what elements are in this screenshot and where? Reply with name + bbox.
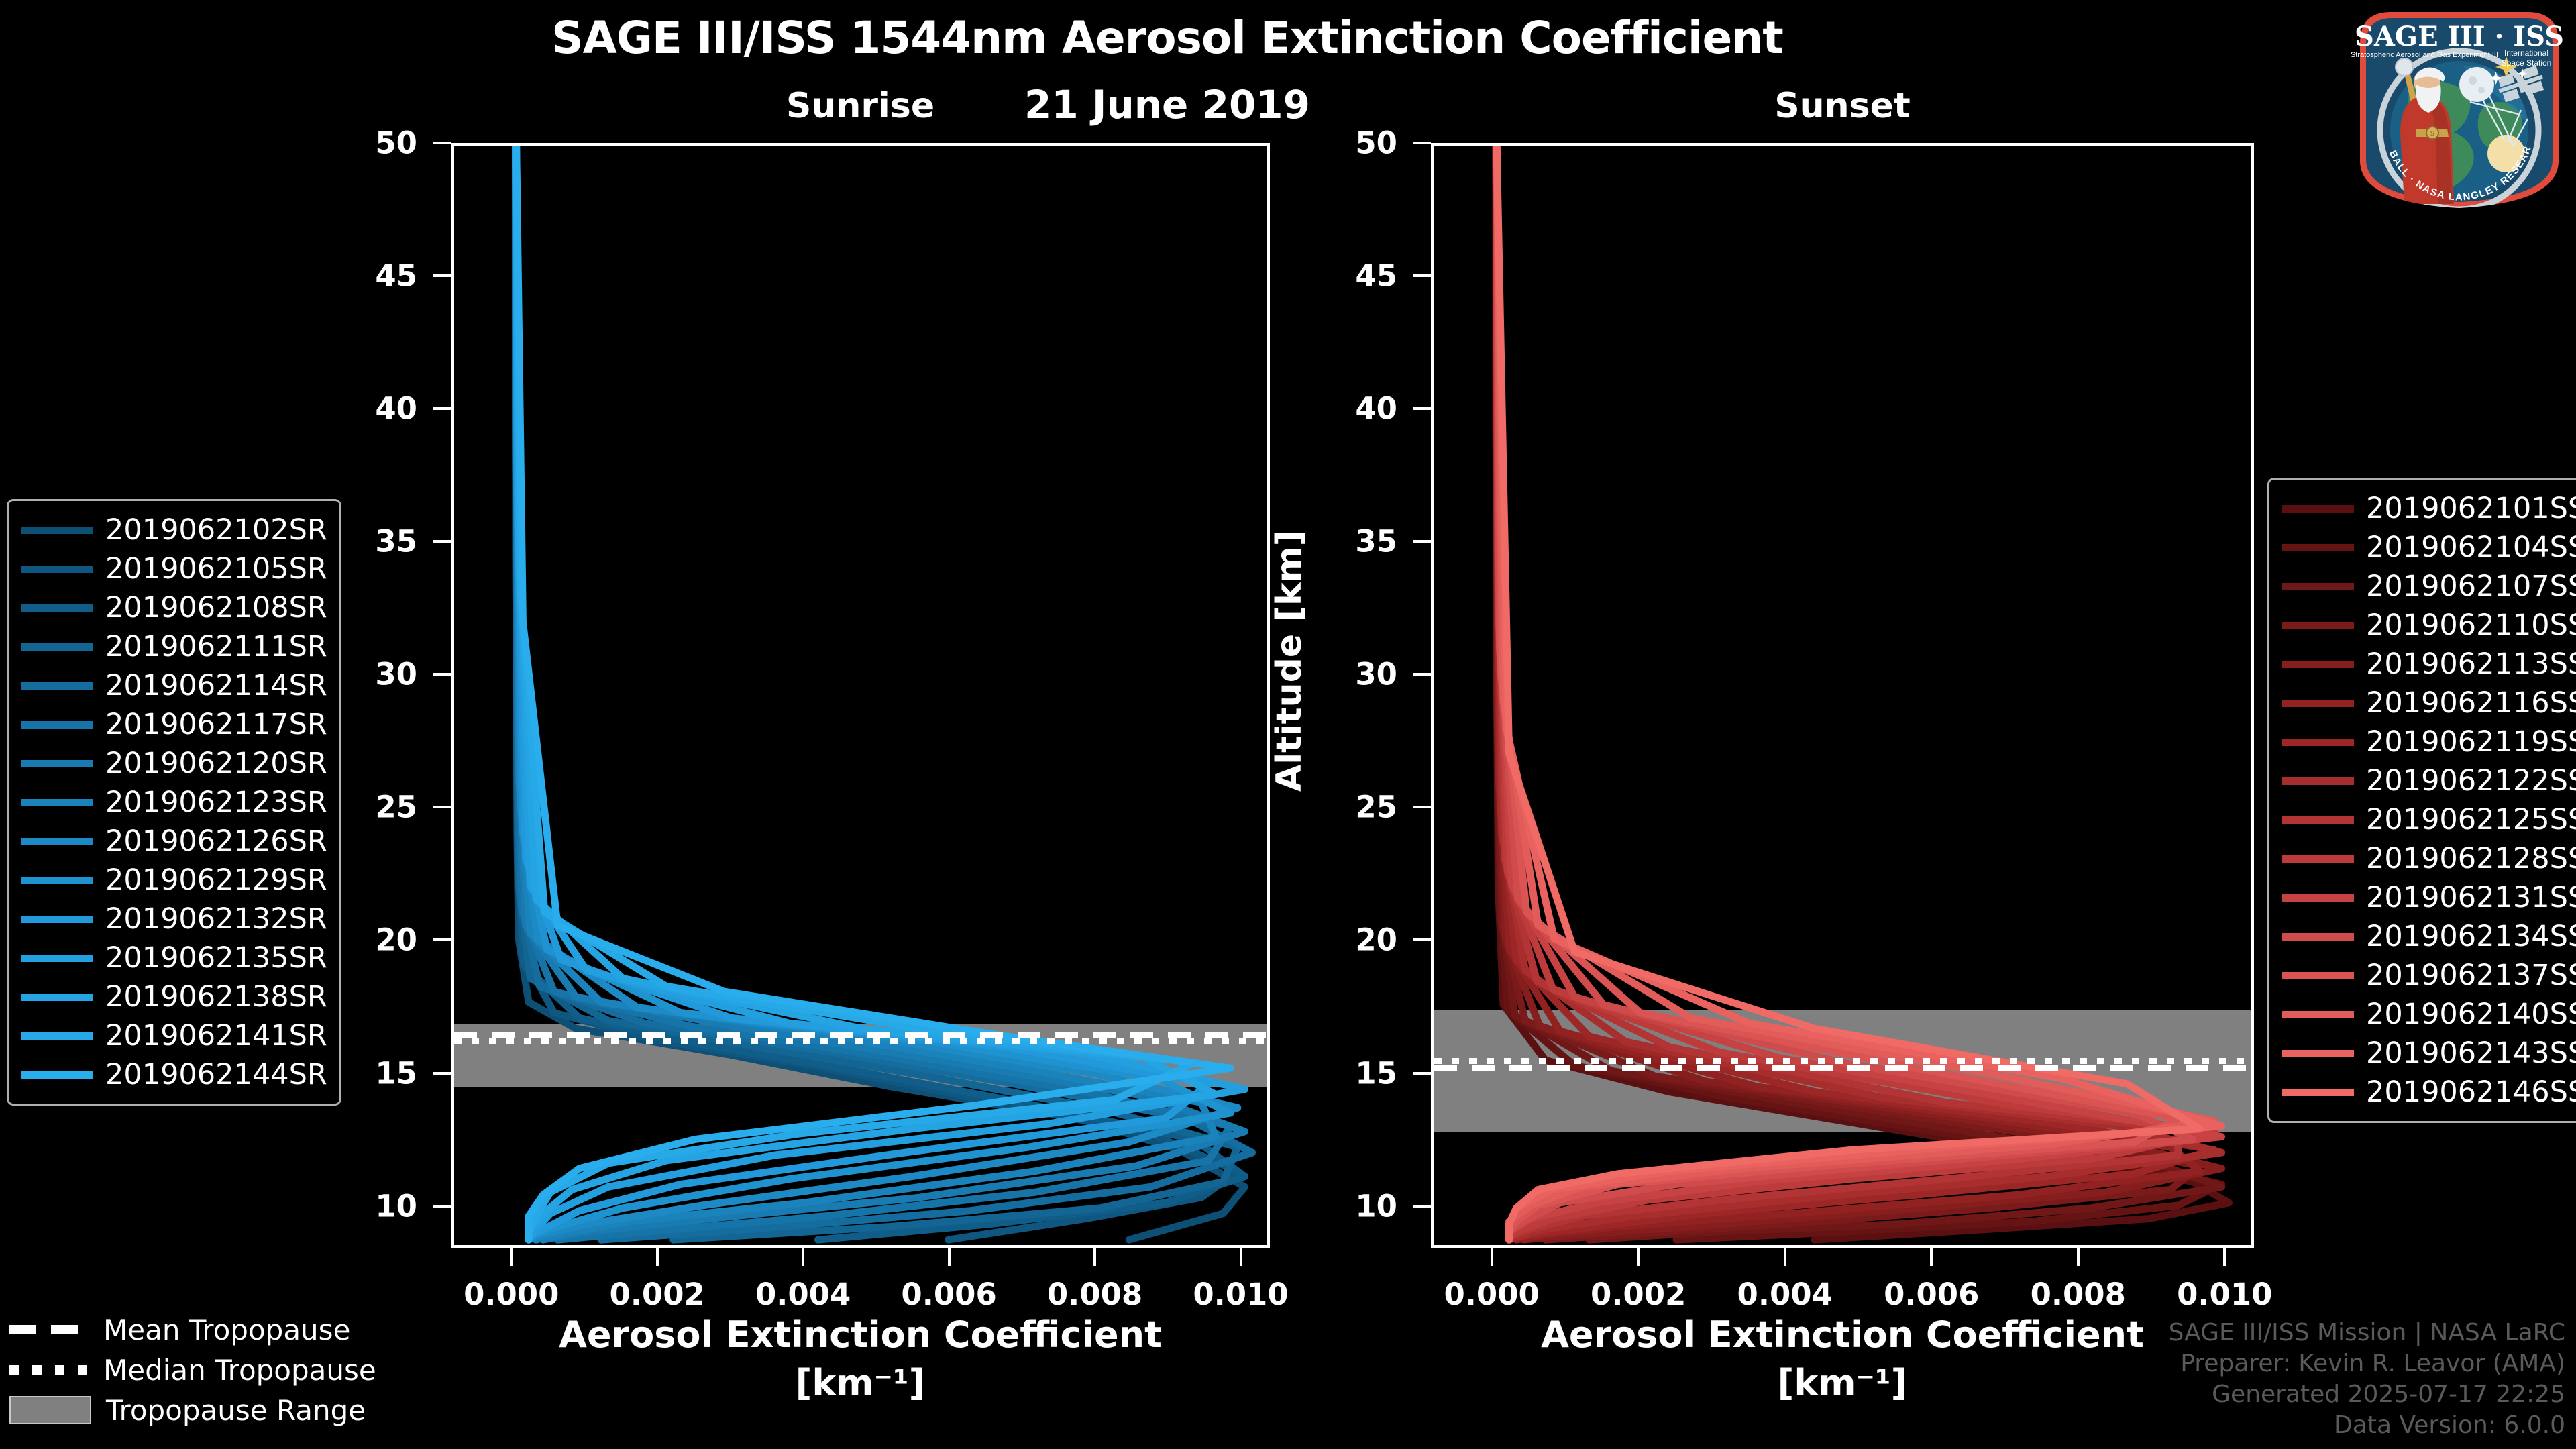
credits-block: SAGE III/ISS Mission | NASA LaRC Prepare…	[2169, 1318, 2565, 1441]
legend-label: 2019062123SR	[105, 786, 327, 819]
y-axis-tick	[1413, 673, 1431, 676]
legend-item[interactable]: 2019062101SS	[2282, 489, 2576, 528]
y-axis-tick	[433, 407, 451, 410]
legend-color-swatch	[21, 877, 93, 884]
sage-iii-iss-logo: S BALL · NASA LANGLEY RESEARCH CENTER · …	[2345, 3, 2573, 211]
legend-label: 2019062131SS	[2366, 881, 2576, 914]
y-axis-tick	[433, 142, 451, 144]
legend-item[interactable]: 2019062120SR	[21, 744, 327, 783]
legend-item[interactable]: 2019062116SS	[2282, 684, 2576, 722]
y-axis-tick-label: 25	[1297, 790, 1397, 825]
legend-item[interactable]: 2019062129SR	[21, 861, 327, 900]
legend-label-mean-tropopause: Mean Tropopause	[103, 1313, 350, 1346]
legend-label: 2019062105SR	[105, 552, 327, 586]
sunset-profiles	[1434, 146, 2251, 1245]
x-axis-tick	[510, 1248, 513, 1266]
legend-label: 2019062110SS	[2366, 608, 2576, 642]
y-axis-tick-label: 40	[1297, 391, 1397, 427]
legend-color-swatch	[21, 604, 93, 612]
page-title: SAGE III/ISS 1544nm Aerosol Extinction C…	[0, 12, 2334, 64]
legend-item[interactable]: 2019062107SS	[2282, 567, 2576, 606]
legend-label: 2019062141SR	[105, 1019, 327, 1053]
credit-data-version: Data Version: 6.0.0	[2169, 1410, 2565, 1441]
logo-subtitle-right-1: International	[2504, 48, 2548, 58]
legend-color-swatch	[2282, 544, 2354, 551]
legend-color-swatch	[2282, 505, 2354, 513]
legend-label: 2019062129SR	[105, 863, 327, 897]
y-axis-tick-label: 10	[317, 1188, 417, 1224]
y-axis-tick-label: 35	[1297, 524, 1397, 559]
y-axis-tick-label: 50	[317, 125, 417, 161]
logo-subtitle-right-2: Space Station	[2502, 58, 2552, 68]
x-axis-tick	[2223, 1248, 2226, 1266]
legend-item[interactable]: 2019062102SR	[21, 511, 327, 549]
x-axis-tick-label: 0.010	[1154, 1277, 1328, 1312]
legend-color-swatch	[21, 1071, 93, 1079]
legend-label: 2019062117SR	[105, 708, 327, 741]
legend-color-swatch	[2282, 700, 2354, 707]
x-axis-tick	[2077, 1248, 2080, 1266]
mean-tropopause-line-sunset	[1434, 1065, 2251, 1071]
legend-label: 2019062144SR	[105, 1058, 327, 1091]
credit-generated: Generated 2025-07-17 22:25	[2169, 1379, 2565, 1410]
legend-color-swatch	[2282, 622, 2354, 629]
legend-color-swatch	[21, 838, 93, 845]
y-axis-tick	[1413, 540, 1431, 543]
legend-item-tropopause-range[interactable]: Tropopause Range	[9, 1390, 376, 1430]
legend-color-swatch	[21, 566, 93, 573]
legend-color-swatch	[2282, 972, 2354, 979]
legend-color-swatch	[2282, 816, 2354, 824]
x-axis-tick	[1784, 1248, 1786, 1266]
legend-label-median-tropopause: Median Tropopause	[103, 1354, 376, 1387]
sunrise-x-axis-title-line1: Aerosol Extinction Coefficient	[451, 1313, 1270, 1356]
legend-label: 2019062101SS	[2366, 492, 2576, 525]
x-axis-tick	[1637, 1248, 1640, 1266]
x-axis-tick	[1491, 1248, 1493, 1266]
y-axis-tick-label: 15	[1297, 1055, 1397, 1091]
y-axis-tick	[1413, 806, 1431, 808]
y-axis-tick	[433, 1072, 451, 1075]
credit-preparer: Preparer: Kevin R. Leavor (AMA)	[2169, 1348, 2565, 1379]
legend-color-swatch	[21, 994, 93, 1001]
legend-item[interactable]: 2019062137SS	[2282, 956, 2576, 995]
sunrise-panel-title: Sunrise	[451, 86, 1270, 126]
legend-item[interactable]: 2019062144SR	[21, 1055, 327, 1094]
y-axis-tick	[433, 938, 451, 941]
logo-title: SAGE III · ISS	[2355, 21, 2564, 52]
legend-color-swatch	[2282, 583, 2354, 590]
x-axis-tick	[1930, 1248, 1933, 1266]
legend-item[interactable]: 2019062131SS	[2282, 878, 2576, 917]
legend-label: 2019062138SR	[105, 980, 327, 1014]
legend-color-swatch	[21, 799, 93, 806]
legend-item-mean-tropopause[interactable]: Mean Tropopause	[9, 1309, 376, 1350]
legend-item[interactable]: 2019062138SR	[21, 977, 327, 1016]
x-axis-tick-label: 0.010	[2137, 1277, 2312, 1312]
y-axis-tick-label: 45	[1297, 258, 1397, 294]
sunrise-profiles	[454, 146, 1267, 1245]
x-axis-tick	[948, 1248, 951, 1266]
y-axis-tick	[1413, 274, 1431, 277]
legend-item-median-tropopause[interactable]: Median Tropopause	[9, 1350, 376, 1390]
x-axis-tick	[1093, 1248, 1096, 1266]
logo-subtitle-left: Stratospheric Aerosol and Gas Experiment…	[2351, 51, 2498, 59]
legend-item[interactable]: 2019062132SR	[21, 900, 327, 938]
legend-label: 2019062126SR	[105, 824, 327, 858]
y-axis-tick-label: 30	[1297, 657, 1397, 692]
legend-color-swatch	[2282, 933, 2354, 941]
legend-color-swatch	[2282, 1089, 2354, 1096]
legend-item[interactable]: 2019062123SR	[21, 783, 327, 822]
y-axis-tick	[433, 540, 451, 543]
x-axis-tick	[802, 1248, 804, 1266]
legend-color-swatch	[21, 527, 93, 534]
y-axis-tick	[433, 673, 451, 676]
legend-item[interactable]: 2019062125SS	[2282, 800, 2576, 839]
y-axis-tick-label: 40	[317, 391, 417, 427]
y-axis-tick	[1413, 1205, 1431, 1207]
legend-color-swatch	[2282, 855, 2354, 863]
legend-label: 2019062119SS	[2366, 725, 2576, 759]
legend-color-swatch	[21, 955, 93, 962]
sunrise-legend[interactable]: 2019062102SR2019062105SR2019062108SR2019…	[7, 499, 341, 1106]
legend-item[interactable]: 2019062108SR	[21, 588, 327, 627]
legend-label: 2019062113SS	[2366, 647, 2576, 681]
legend-label: 2019062143SS	[2366, 1036, 2576, 1070]
legend-label: 2019062111SR	[105, 630, 327, 663]
legend-item[interactable]: 2019062135SR	[21, 938, 327, 977]
legend-label: 2019062116SS	[2366, 686, 2576, 720]
legend-item[interactable]: 2019062113SS	[2282, 645, 2576, 684]
dotted-line-icon	[9, 1365, 89, 1375]
legend-label: 2019062137SS	[2366, 959, 2576, 992]
y-axis-tick	[433, 274, 451, 277]
svg-text:S: S	[2430, 131, 2434, 138]
sunset-legend[interactable]: 2019062101SS2019062104SS2019062107SS2019…	[2267, 478, 2576, 1123]
legend-item[interactable]: 2019062128SS	[2282, 839, 2576, 878]
y-axis-tick	[1413, 1072, 1431, 1075]
legend-color-swatch	[2282, 739, 2354, 746]
legend-item[interactable]: 2019062105SR	[21, 549, 327, 588]
legend-label: 2019062102SR	[105, 513, 327, 547]
legend-item[interactable]: 2019062146SS	[2282, 1073, 2576, 1112]
sunrise-x-axis-title-line2: [km⁻¹]	[451, 1362, 1270, 1404]
y-axis-tick	[1413, 407, 1431, 410]
sunset-panel-title: Sunset	[1431, 86, 2254, 126]
tropopause-legend[interactable]: Mean Tropopause Median Tropopause Tropop…	[9, 1309, 376, 1430]
legend-item[interactable]: 2019062143SS	[2282, 1034, 2576, 1073]
legend-item[interactable]: 2019062134SS	[2282, 917, 2576, 956]
legend-label: 2019062104SS	[2366, 531, 2576, 564]
legend-color-swatch	[21, 643, 93, 651]
legend-label: 2019062122SS	[2366, 764, 2576, 798]
legend-color-swatch	[21, 682, 93, 690]
x-axis-tick	[1240, 1248, 1242, 1266]
legend-color-swatch	[2282, 661, 2354, 668]
x-axis-tick	[656, 1248, 659, 1266]
legend-color-swatch	[21, 1032, 93, 1040]
legend-label: 2019062120SR	[105, 747, 327, 780]
legend-label: 2019062107SS	[2366, 570, 2576, 603]
legend-item[interactable]: 2019062104SS	[2282, 528, 2576, 567]
credit-mission: SAGE III/ISS Mission | NASA LaRC	[2169, 1318, 2565, 1348]
legend-label: 2019062146SS	[2366, 1075, 2576, 1109]
legend-label-tropopause-range: Tropopause Range	[106, 1394, 366, 1427]
legend-color-swatch	[2282, 777, 2354, 785]
y-axis-tick	[433, 806, 451, 808]
filled-box-icon	[9, 1396, 91, 1424]
legend-color-swatch	[21, 721, 93, 729]
legend-label: 2019062132SR	[105, 902, 327, 936]
y-axis-tick	[1413, 142, 1431, 144]
y-axis-tick-label: 45	[317, 258, 417, 294]
median-tropopause-line-sunset	[1434, 1058, 2251, 1064]
dashed-line-icon	[9, 1325, 89, 1334]
legend-label: 2019062125SS	[2366, 803, 2576, 837]
legend-label: 2019062134SS	[2366, 920, 2576, 953]
sunset-plot-area	[1431, 143, 2254, 1248]
legend-color-swatch	[2282, 1011, 2354, 1018]
sunset-y-axis-title: Altitude [km]	[1269, 530, 1309, 792]
y-axis-tick	[1413, 938, 1431, 941]
legend-label: 2019062114SR	[105, 669, 327, 702]
legend-item[interactable]: 2019062117SR	[21, 705, 327, 744]
y-axis-tick-label: 20	[1297, 922, 1397, 958]
legend-label: 2019062135SR	[105, 941, 327, 975]
y-axis-tick-label: 10	[1297, 1188, 1397, 1224]
legend-label: 2019062108SR	[105, 591, 327, 625]
legend-item[interactable]: 2019062114SR	[21, 666, 327, 705]
legend-label: 2019062128SS	[2366, 842, 2576, 875]
y-axis-tick	[433, 1205, 451, 1207]
legend-item[interactable]: 2019062141SR	[21, 1016, 327, 1055]
legend-item[interactable]: 2019062111SR	[21, 627, 327, 666]
legend-item[interactable]: 2019062119SS	[2282, 722, 2576, 761]
median-tropopause-line-sunrise	[454, 1038, 1267, 1044]
legend-item[interactable]: 2019062126SR	[21, 822, 327, 861]
legend-color-swatch	[2282, 1050, 2354, 1057]
sunset-x-axis-title-line2: [km⁻¹]	[1431, 1362, 2254, 1404]
legend-item[interactable]: 2019062110SS	[2282, 606, 2576, 645]
sunset-x-axis-title-line1: Aerosol Extinction Coefficient	[1431, 1313, 2254, 1356]
legend-color-swatch	[21, 916, 93, 923]
legend-item[interactable]: 2019062122SS	[2282, 761, 2576, 800]
y-axis-tick-label: 50	[1297, 125, 1397, 161]
legend-color-swatch	[2282, 894, 2354, 902]
legend-label: 2019062140SS	[2366, 998, 2576, 1031]
legend-color-swatch	[21, 760, 93, 767]
legend-item[interactable]: 2019062140SS	[2282, 995, 2576, 1034]
sunrise-plot-area	[451, 143, 1270, 1248]
